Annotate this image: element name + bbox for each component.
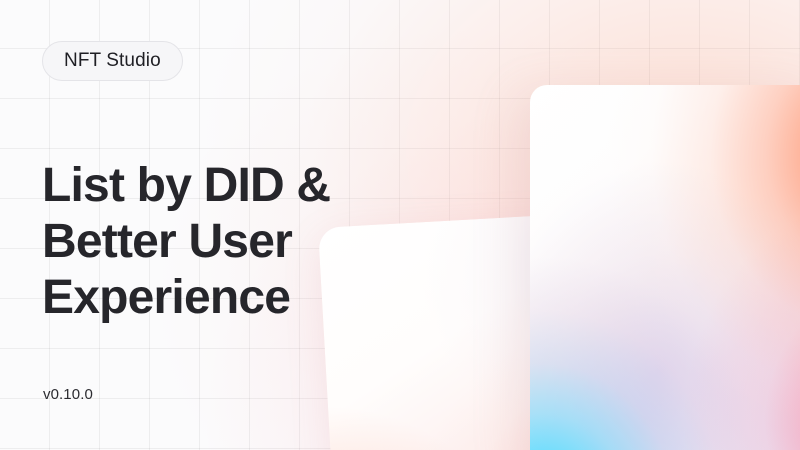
product-badge-label: NFT Studio	[64, 50, 161, 72]
page-title: List by DID & Better User Experience	[42, 158, 330, 326]
page-title-line-1: List by DID &	[42, 158, 330, 214]
page-title-line-2: Better User	[42, 214, 330, 270]
page-title-line-3: Experience	[42, 270, 330, 326]
version-label: v0.10.0	[43, 386, 93, 403]
content-group: NFT Studio List by DID & Better User Exp…	[0, 0, 800, 450]
product-badge[interactable]: NFT Studio	[42, 41, 183, 81]
slide-canvas: NFT Studio List by DID & Better User Exp…	[0, 0, 800, 450]
